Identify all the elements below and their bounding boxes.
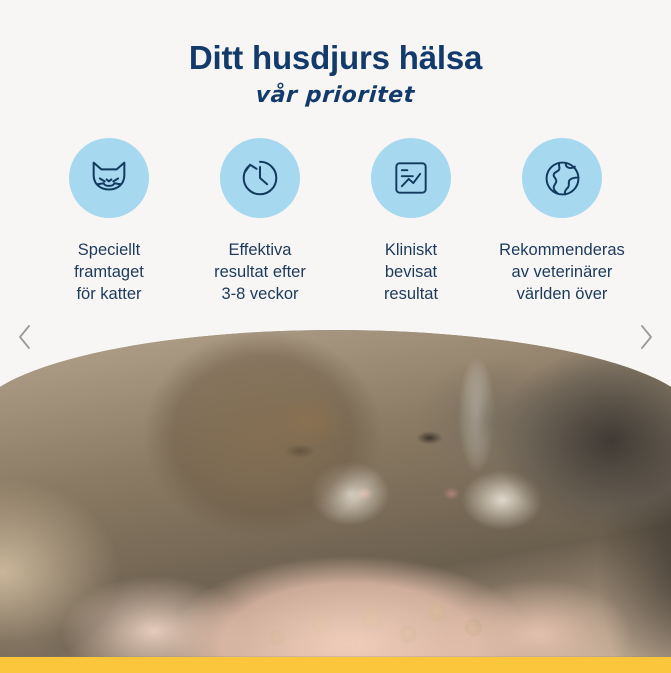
clock-rotate-icon: [220, 138, 300, 218]
feature-label: Effektiva resultat efter 3-8 veckor: [214, 240, 306, 305]
feature-list: Speciellt framtaget för katter Effektiva…: [34, 138, 637, 305]
feature-item-kliniskt-bevisat: Kliniskt bevisat resultat: [336, 138, 486, 305]
feature-label: Rekommenderas av veterinärer världen öve…: [499, 240, 625, 305]
cat-face-icon: [69, 138, 149, 218]
promo-panel: Ditt husdjurs hälsa vår prioritet Specie…: [0, 0, 671, 673]
hero-photo: [0, 330, 671, 657]
hero-photo-image: [0, 330, 671, 657]
chart-document-icon: [371, 138, 451, 218]
bottom-accent-bar: [0, 657, 671, 673]
globe-icon: [522, 138, 602, 218]
page-title: Ditt husdjurs hälsa: [0, 0, 671, 76]
feature-item-speciellt-framtaget: Speciellt framtaget för katter: [34, 138, 184, 305]
hero-photo-mask: [0, 330, 671, 657]
page-subtitle: vår prioritet: [0, 76, 671, 108]
feature-item-effektiva-resultat: Effektiva resultat efter 3-8 veckor: [185, 138, 335, 305]
feature-item-rekommenderas: Rekommenderas av veterinärer världen öve…: [487, 138, 637, 305]
header: Ditt husdjurs hälsa vår prioritet: [0, 0, 671, 108]
feature-label: Kliniskt bevisat resultat: [384, 240, 438, 305]
feature-label: Speciellt framtaget för katter: [74, 240, 144, 305]
